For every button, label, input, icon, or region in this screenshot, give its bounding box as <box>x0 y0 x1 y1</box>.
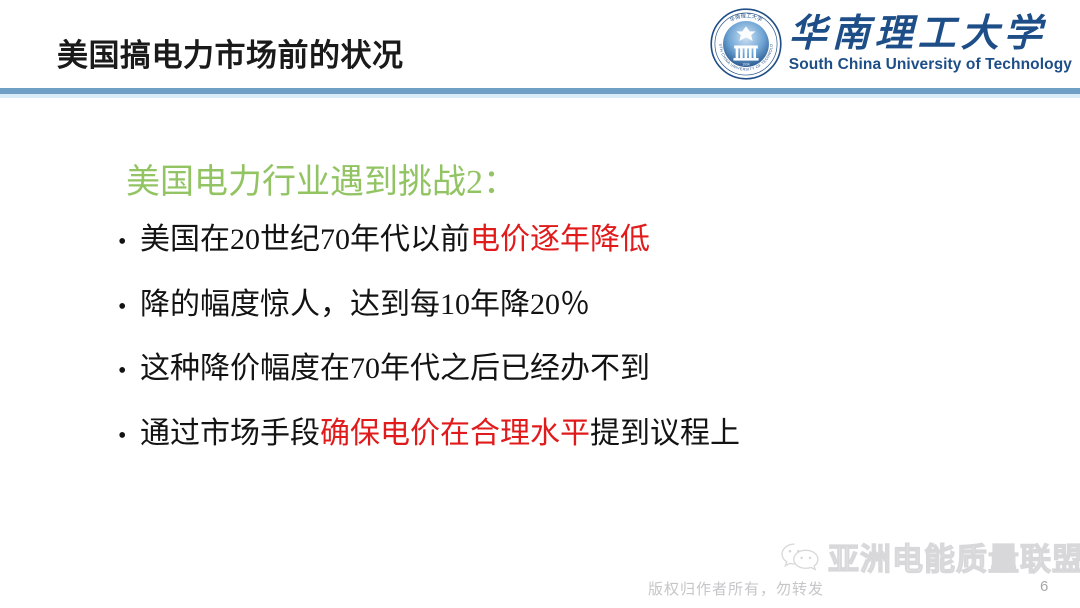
slide-header: 美国搞电力市场前的状况 <box>0 0 1080 88</box>
watermark: 亚洲电能质量联盟 <box>780 534 1080 579</box>
section-heading: 美国电力行业遇到挑战2： <box>126 154 517 203</box>
plain-phrase: 提到议程上 <box>590 417 740 450</box>
slide-body: 美国电力行业遇到挑战2： •美国在20世纪70年代以前电价逐年降低•降的幅度惊人… <box>0 98 1080 608</box>
plain-phrase: 通过市场手段 <box>140 417 320 450</box>
bullet-item: •这种降价幅度在70年代之后已经办不到 <box>118 351 1018 388</box>
page-number: 6 <box>1040 578 1048 595</box>
scut-emblem-icon: 华南理工大学 SOUTH CHINA UNIVERSITY OF TECHNOL… <box>709 7 783 81</box>
bullet-item: •降的幅度惊人，达到每10年降20％ <box>118 287 1018 324</box>
watermark-label: 亚洲电能质量联盟 <box>828 534 1080 579</box>
university-logo-text: 华南理工大学 South China University of Technol… <box>789 15 1072 74</box>
bullet-list: •美国在20世纪70年代以前电价逐年降低•降的幅度惊人，达到每10年降20％•这… <box>118 222 1018 480</box>
highlighted-phrase: 确保电价在合理水平 <box>320 417 590 450</box>
bullet-text: 通过市场手段确保电价在合理水平提到议程上 <box>140 416 740 453</box>
university-logo: 华南理工大学 SOUTH CHINA UNIVERSITY OF TECHNOL… <box>709 4 1072 84</box>
bullet-marker-icon: • <box>118 295 140 319</box>
bullet-marker-icon: • <box>118 230 140 254</box>
presentation-slide: 美国搞电力市场前的状况 <box>0 0 1080 608</box>
plain-phrase: 降的幅度惊人，达到每10年降20％ <box>140 288 590 321</box>
bullet-item: •美国在20世纪70年代以前电价逐年降低 <box>118 222 1018 259</box>
bullet-marker-icon: • <box>118 424 140 448</box>
bullet-item: •通过市场手段确保电价在合理水平提到议程上 <box>118 416 1018 453</box>
university-name-en: South China University of Technology <box>789 56 1072 74</box>
bullet-text: 这种降价幅度在70年代之后已经办不到 <box>140 351 650 388</box>
bullet-text: 美国在20世纪70年代以前电价逐年降低 <box>140 222 650 259</box>
plain-phrase: 这种降价幅度在70年代之后已经办不到 <box>140 352 650 385</box>
plain-phrase: 美国在20世纪70年代以前 <box>140 223 470 256</box>
bullet-marker-icon: • <box>118 359 140 383</box>
university-name-cn: 华南理工大学 <box>789 15 1047 53</box>
highlighted-phrase: 电价逐年降低 <box>470 223 650 256</box>
svg-text:1934: 1934 <box>742 62 749 66</box>
bullet-text: 降的幅度惊人，达到每10年降20％ <box>140 287 590 324</box>
page-title: 美国搞电力市场前的状况 <box>57 30 404 75</box>
copyright-note: 版权归作者所有，勿转发 <box>648 578 824 599</box>
wechat-icon <box>780 540 820 574</box>
